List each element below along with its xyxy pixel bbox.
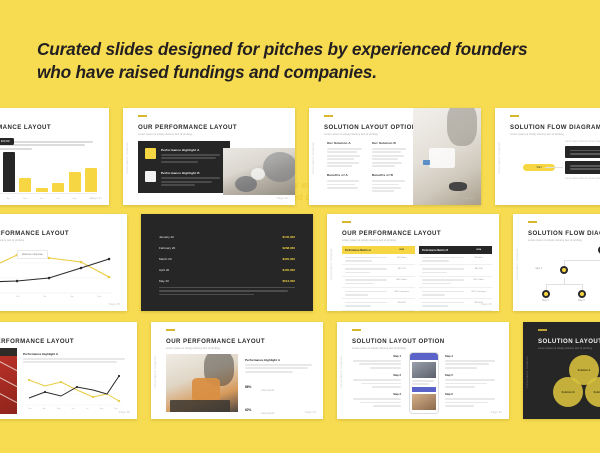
table-row: 487 Customers bbox=[419, 288, 492, 299]
slide-side-label: Presentation Template bbox=[330, 248, 333, 280]
solution-column: Our Solution A Benefits of A bbox=[327, 141, 362, 194]
highlight-block: Performance Highlight A bbox=[23, 352, 127, 365]
slide-photo bbox=[0, 348, 17, 414]
month-label: January 20 bbox=[159, 235, 174, 239]
slide-logo bbox=[166, 329, 175, 331]
slide-thumbnail[interactable]: SOLUTION LAYOUT OPTION Lorem ipsum is si… bbox=[337, 322, 509, 419]
document-icon bbox=[145, 171, 156, 182]
highlight-title: Performance Highlight A bbox=[161, 148, 223, 152]
months-note bbox=[159, 287, 295, 297]
venn-diagram: Solution A Solution B Solution C bbox=[553, 355, 600, 411]
table-header-row: Performance Metrics A 2023 bbox=[342, 246, 415, 254]
slide-title: OUR PERFORMANCE LAYOUT bbox=[0, 124, 99, 131]
slide-title: OUR PERFORMANCE LAYOUT bbox=[166, 338, 313, 345]
slide-row-1: OUR PERFORMANCE LAYOUT Lorem ipsum is si… bbox=[0, 108, 600, 205]
month-value: $405,000 bbox=[282, 268, 295, 272]
highlight-title: Performance Highlight A bbox=[245, 358, 313, 362]
slide-subtitle: Lorem ipsum is simply dummy text of prin… bbox=[528, 239, 600, 243]
month-label: April 20 bbox=[159, 268, 169, 272]
chart-x-labels: JanFeb MarApr MayJun JulAug Sep bbox=[0, 198, 97, 200]
chart-x-labels: MarApr MayJun JulAug Sep bbox=[23, 408, 123, 410]
slide-page-number: Page 02 bbox=[277, 197, 288, 200]
line-chart bbox=[23, 370, 123, 406]
slide-photo bbox=[166, 354, 238, 412]
connector bbox=[545, 167, 563, 168]
flow-caption: Lorem ipsum dolor sit amet consectetur bbox=[565, 177, 600, 180]
steps-right: Step 4 Step 5 Step 6 bbox=[445, 355, 495, 412]
performance-table-b: Performance Metrics B 2024 98 Sales $61,… bbox=[419, 246, 492, 311]
table-row: 260 Customers bbox=[342, 288, 415, 299]
step-label: Step 1 bbox=[353, 355, 401, 358]
stats-block: Performance Highlight A 86% Lorem ipsum … bbox=[245, 358, 313, 419]
column-header: Performance Metrics B bbox=[422, 249, 468, 252]
node-label: Step 5 bbox=[578, 300, 585, 302]
chart-x-labels: JanFeb MarApr May bbox=[0, 296, 113, 298]
month-value: $512,000 bbox=[282, 279, 295, 283]
slide-thumbnail[interactable]: OUR PERFORMANCE LAYOUT Lorem ipsum is si… bbox=[123, 108, 295, 205]
slide-thumbnail[interactable]: SOLUTION FLOW DIAGRAM LAYOUT Lorem ipsum… bbox=[513, 214, 600, 311]
stat-row: 62% Lorem ipsum bbox=[245, 401, 313, 419]
column-heading: Our Solution B bbox=[372, 141, 407, 145]
node-label: Step 2 bbox=[535, 268, 542, 270]
flow-stack: Lorem ipsum dolor sit amet consectetur L… bbox=[565, 140, 600, 180]
step-block: Step 1 bbox=[353, 355, 401, 369]
slide-thumbnail[interactable]: OUR PERFORMANCE LAYOUT Lorem ipsum is si… bbox=[0, 108, 109, 205]
months-list: January 20 $145,000 February 20 $238,000… bbox=[159, 232, 295, 286]
flow-box[interactable] bbox=[565, 146, 600, 158]
page-headline: Curated slides designed for pitches by e… bbox=[37, 38, 557, 84]
table-row: 120 Sales bbox=[342, 254, 415, 265]
slide-side-label: Presentation Template bbox=[312, 142, 315, 174]
slide-thumbnail[interactable]: OUR PERFORMANCE LAYOUT Performance Highl… bbox=[0, 322, 137, 419]
steps-left: Step 1 Step 2 Step 3 bbox=[353, 355, 401, 412]
highlight-item: Performance Highlight B bbox=[145, 171, 223, 187]
table-row: $52,120 bbox=[342, 265, 415, 276]
highlight-title: Performance Highlight B bbox=[161, 171, 223, 175]
month-row: April 20 $405,000 bbox=[159, 264, 295, 275]
tree-node[interactable] bbox=[560, 266, 568, 274]
slide-thumbnail[interactable]: SOLUTION LAYOUT OPTION Lorem ipsum is si… bbox=[523, 322, 600, 419]
slide-thumbnail[interactable]: SOLUTION LAYOUT OPTION Lorem ipsum is si… bbox=[309, 108, 481, 205]
slide-side-label: Presentation Template bbox=[154, 356, 157, 388]
slide-side-label: Presentation Template bbox=[498, 142, 501, 174]
column-header: Performance Metrics A bbox=[345, 249, 391, 252]
slide-title: SOLUTION LAYOUT OPTION bbox=[538, 338, 600, 345]
slide-logo bbox=[538, 329, 547, 331]
stat-label: Lorem ipsum bbox=[261, 390, 274, 392]
slide-title: SOLUTION FLOW DIAGRAM LAYOUT bbox=[528, 230, 600, 237]
slide-subtitle: Lorem ipsum is simply dummy text of prin… bbox=[510, 133, 600, 137]
step-label: Step 5 bbox=[445, 374, 495, 377]
step-label: Step 3 bbox=[353, 393, 401, 396]
step-label: Step 2 bbox=[353, 374, 401, 377]
step-label: Step 4 bbox=[445, 355, 495, 358]
slide-row-3: OUR PERFORMANCE LAYOUT Performance Highl… bbox=[0, 322, 600, 419]
table-row: $61,340 bbox=[419, 265, 492, 276]
node-label: Step 4 bbox=[542, 300, 549, 302]
column-header: 2024 bbox=[468, 249, 489, 252]
highlight-title: Performance Highlight A bbox=[23, 352, 127, 356]
chart-icon bbox=[145, 148, 156, 159]
slide-page-number: Page 05 bbox=[109, 303, 120, 306]
slide-logo bbox=[342, 221, 351, 223]
slide-title: SOLUTION LAYOUT OPTION bbox=[352, 338, 499, 345]
month-label: May 20 bbox=[159, 279, 169, 283]
phone-mockup bbox=[409, 352, 439, 414]
slide-logo bbox=[352, 329, 361, 331]
slide-side-label: Presentation Template bbox=[516, 248, 519, 280]
chart-legend: Revenue / Expense bbox=[17, 250, 48, 259]
slide-logo bbox=[324, 115, 333, 117]
slide-subtitle: Lorem ipsum is simply dummy text of prin… bbox=[352, 347, 483, 351]
step-block: Step 5 bbox=[445, 374, 495, 388]
column-heading: Benefits of A bbox=[327, 173, 362, 177]
slide-photo bbox=[413, 108, 481, 205]
month-label: February 20 bbox=[159, 246, 175, 250]
slide-subtitle: Lorem ipsum is simply dummy text of prin… bbox=[166, 347, 297, 351]
bar-highlighted bbox=[3, 152, 15, 192]
month-row: May 20 $512,000 bbox=[159, 275, 295, 286]
month-row: January 20 $145,000 bbox=[159, 232, 295, 243]
slide-side-label: Presentation Template bbox=[340, 356, 343, 388]
step-block: Step 3 bbox=[353, 393, 401, 407]
slide-page-number: Page 08 bbox=[119, 411, 130, 414]
stat-label: Lorem ipsum bbox=[261, 413, 274, 415]
slide-title: SOLUTION FLOW DIAGRAM LAYOUT bbox=[510, 124, 600, 131]
slide-logo bbox=[510, 115, 519, 117]
slide-subtitle: Lorem ipsum is simply dummy text of prin… bbox=[538, 347, 600, 351]
tree-node[interactable] bbox=[578, 290, 586, 298]
month-row: March 20 $320,000 bbox=[159, 254, 295, 265]
performance-table-a: Performance Metrics A 2023 120 Sales $52… bbox=[342, 246, 415, 311]
bar-chart bbox=[0, 150, 97, 192]
month-value: $238,000 bbox=[282, 246, 295, 250]
flow-box[interactable] bbox=[565, 161, 600, 173]
page-root: Curated slides designed for pitches by e… bbox=[0, 0, 600, 453]
slide-title: OUR PERFORMANCE LAYOUT bbox=[342, 230, 489, 237]
slide-thumbnail[interactable]: SOLUTION FLOW DIAGRAM LAYOUT Lorem ipsum… bbox=[495, 108, 600, 205]
solution-columns: Our Solution A Benefits of A Our Solutio… bbox=[327, 141, 407, 194]
stat-percent: 86% bbox=[245, 385, 257, 389]
step-block: Step 2 bbox=[353, 374, 401, 388]
flow-caption: Lorem ipsum dolor sit amet consectetur bbox=[565, 140, 600, 143]
slide-page-number: Page 09 bbox=[305, 411, 316, 414]
slide-thumbnail[interactable]: OUR PERFORMANCE LAYOUT Lorem ipsum is si… bbox=[0, 214, 127, 311]
solution-column: Our Solution B Benefits of B bbox=[372, 141, 407, 194]
venn-circle: Solution B bbox=[553, 377, 583, 407]
month-value: $320,000 bbox=[282, 257, 295, 261]
slide-logo bbox=[528, 221, 537, 223]
step-block: Step 4 bbox=[445, 355, 495, 369]
table-row: 840 Orders bbox=[342, 277, 415, 288]
table-row: 98 Sales bbox=[419, 254, 492, 265]
month-row: February 20 $238,000 bbox=[159, 243, 295, 254]
slide-page-number: Page 06 bbox=[481, 303, 492, 306]
slide-photo bbox=[223, 148, 295, 195]
slide-thumbnail[interactable]: OUR PERFORMANCE LAYOUT Lorem ipsum is si… bbox=[151, 322, 323, 419]
column-heading: Our Solution A bbox=[327, 141, 362, 145]
column-header: 2023 bbox=[391, 249, 412, 252]
slide-row-2: OUR PERFORMANCE LAYOUT Lorem ipsum is si… bbox=[0, 214, 600, 311]
chart-tooltip: $24,500 bbox=[0, 138, 14, 145]
slide-side-label: Presentation Template bbox=[526, 356, 529, 388]
month-label: March 20 bbox=[159, 257, 172, 261]
step-block: Step 6 bbox=[445, 393, 495, 407]
slide-title: OUR PERFORMANCE LAYOUT bbox=[0, 338, 127, 345]
slide-logo bbox=[138, 115, 147, 117]
highlight-item: Performance Highlight A bbox=[145, 148, 223, 164]
slide-subtitle: Lorem ipsum is simply dummy text of prin… bbox=[138, 133, 269, 137]
chart-axis bbox=[0, 193, 97, 194]
slide-thumbnail[interactable]: January 20 $145,000 February 20 $238,000… bbox=[141, 214, 313, 311]
slide-title: OUR PERFORMANCE LAYOUT bbox=[0, 230, 117, 237]
step-label: Step 6 bbox=[445, 393, 495, 396]
tree-node[interactable] bbox=[542, 290, 550, 298]
slide-title: OUR PERFORMANCE LAYOUT bbox=[138, 124, 285, 131]
slide-page-number: Page 03 bbox=[463, 197, 474, 200]
slide-page-number: Page 01 bbox=[91, 197, 102, 200]
table-row: 910 Orders bbox=[419, 277, 492, 288]
slide-subtitle: Lorem ipsum is simply dummy text of prin… bbox=[342, 239, 473, 243]
stat-percent: 62% bbox=[245, 408, 257, 412]
slide-side-label: Presentation Template bbox=[126, 142, 129, 174]
slide-subtitle: Lorem ipsum is simply dummy text bbox=[0, 133, 83, 137]
stat-row: 86% Lorem ipsum bbox=[245, 378, 313, 396]
slide-thumbnail[interactable]: OUR PERFORMANCE LAYOUT Lorem ipsum is si… bbox=[327, 214, 499, 311]
slide-page-number: Page 10 bbox=[491, 411, 502, 414]
table-header-row: Performance Metrics B 2024 bbox=[419, 246, 492, 254]
table-row: $18,400 bbox=[342, 299, 415, 310]
tree-diagram: Step 1 Step 2 Step 3 Step 4 Step 5 Step … bbox=[528, 246, 600, 303]
slide-subtitle: Lorem ipsum is simply dummy text of prin… bbox=[0, 239, 101, 243]
highlights-panel: Performance Highlight A Performance High… bbox=[138, 141, 230, 193]
month-value: $145,000 bbox=[282, 235, 295, 239]
column-heading: Benefits of B bbox=[372, 173, 407, 177]
